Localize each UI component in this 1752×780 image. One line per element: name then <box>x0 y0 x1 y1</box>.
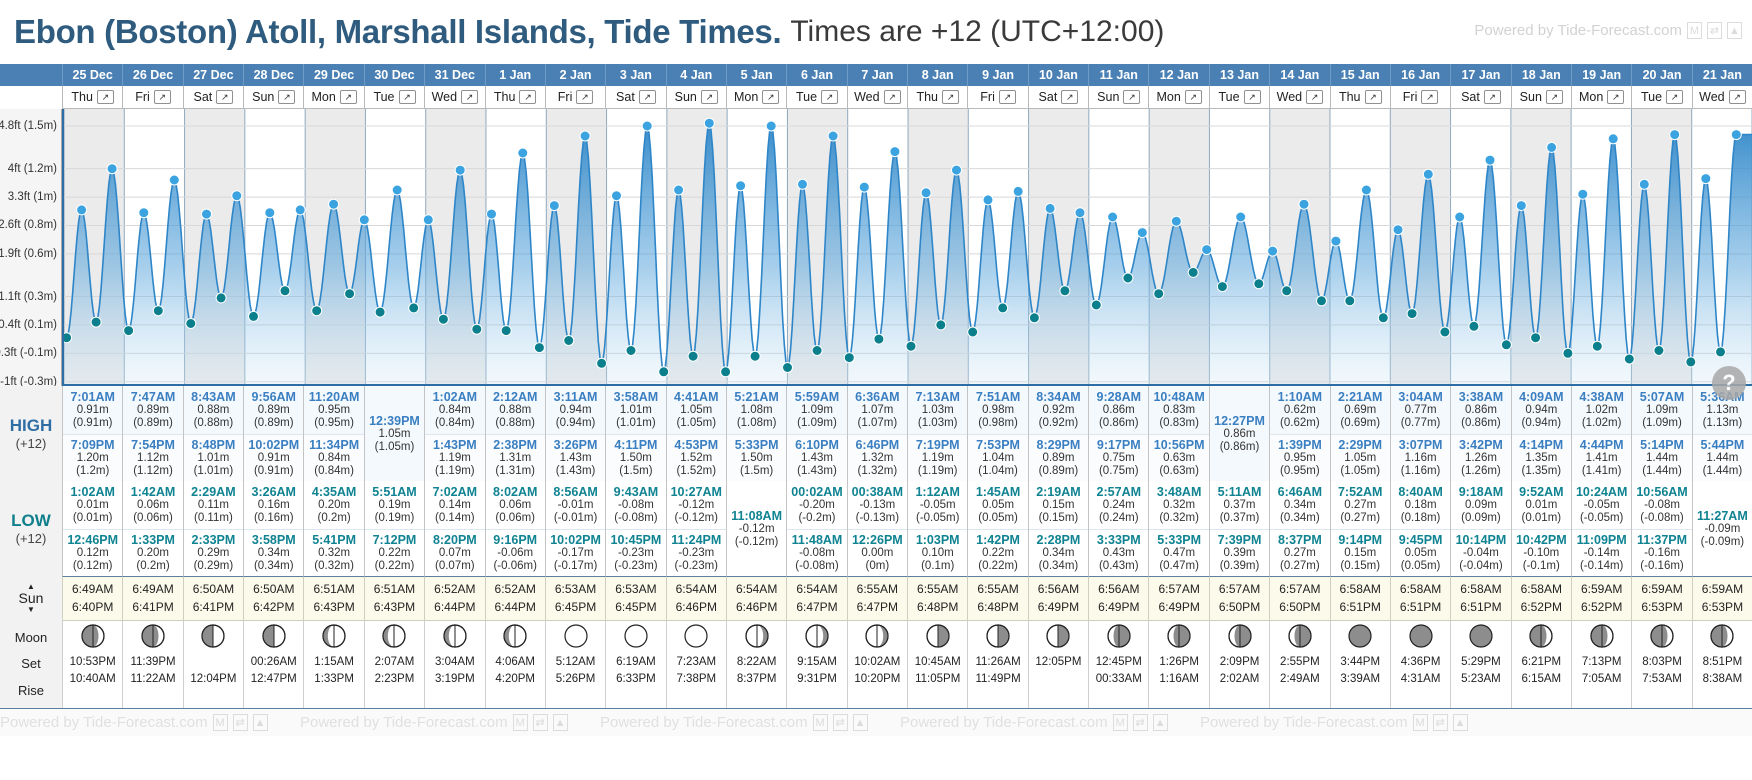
sunset-time: 6:45PM <box>555 599 596 616</box>
day-header-4[interactable]: Mon↗ <box>303 86 363 109</box>
low-tide-point-2[interactable] <box>91 317 101 327</box>
low-time: 6:46AM <box>1278 485 1322 499</box>
date-header-20[interactable]: 14 Jan <box>1269 64 1329 86</box>
high-height-alt: (1.44m) <box>1642 465 1682 478</box>
moon-times: 10:53PM10:40AM <box>70 654 116 689</box>
expand-day-icon[interactable]: ↗ <box>639 90 656 104</box>
day-header-12[interactable]: Tue↗ <box>786 86 846 109</box>
expand-day-icon[interactable]: ↗ <box>701 90 718 104</box>
date-header-3[interactable]: 28 Dec <box>243 64 303 86</box>
y-axis-tick-4: 1.9ft (0.6m) <box>0 248 57 260</box>
expand-day-icon[interactable]: ↗ <box>97 90 114 104</box>
high-tide-point-9[interactable] <box>202 209 212 219</box>
high-cell-25: 4:38AM1.02m(1.02m)4:44PM1.41m(1.41m) <box>1571 386 1631 481</box>
high-tide-point-15[interactable] <box>295 205 305 215</box>
high-tide-point-81[interactable] <box>1331 236 1341 246</box>
low-tide-point-30[interactable] <box>534 343 544 353</box>
low-tide-point-18[interactable] <box>345 289 355 299</box>
day-header-11[interactable]: Mon↗ <box>726 86 786 109</box>
moonrise-time: 10:40AM <box>70 671 116 688</box>
low-tide-point-76[interactable] <box>1254 279 1264 289</box>
day-header-15[interactable]: Fri↗ <box>967 86 1027 109</box>
high-tide-point-47[interactable] <box>798 179 808 189</box>
high-tide-point-25[interactable] <box>455 165 465 175</box>
high-time: 7:19PM <box>916 438 960 452</box>
low-tide-point-26[interactable] <box>472 324 482 334</box>
expand-day-icon[interactable]: ↗ <box>216 90 233 104</box>
high-tide-point-33[interactable] <box>580 131 590 141</box>
low-height: 0.24m <box>1103 499 1135 512</box>
low-tide-point-56[interactable] <box>936 320 946 330</box>
high-height-alt: (0.77m) <box>1401 417 1441 430</box>
moon-times: 2:07AM2:23PM <box>375 654 415 689</box>
low-height-alt: (-0.05m) <box>1580 512 1623 525</box>
day-name-label: Sat <box>616 90 635 104</box>
high-tide-point-65[interactable] <box>1075 208 1085 218</box>
day-header-8[interactable]: Fri↗ <box>545 86 605 109</box>
high-tide-point-19[interactable] <box>359 215 369 225</box>
high-tide-point-93[interactable] <box>1516 201 1526 211</box>
date-header-19[interactable]: 13 Jan <box>1209 64 1269 86</box>
moonrise-time: 00:33AM <box>1096 671 1142 688</box>
low-tide-point-38[interactable] <box>659 367 669 377</box>
low-tide-point-14[interactable] <box>280 286 290 296</box>
low-tide-point-12[interactable] <box>249 311 259 321</box>
low-tide-point-102[interactable] <box>1654 346 1664 356</box>
sun-label-text: Sun <box>19 590 44 606</box>
low-tide-point-46[interactable] <box>783 363 793 373</box>
low-tide-point-0[interactable] <box>64 333 72 343</box>
expand-day-icon[interactable]: ↗ <box>999 90 1016 104</box>
help-icon[interactable]: ? <box>1712 366 1746 400</box>
date-header-10[interactable]: 4 Jan <box>666 64 726 86</box>
moon-label-text: Moon <box>15 630 48 645</box>
high-tide-point-13[interactable] <box>265 208 275 218</box>
high-height: 1.09m <box>1646 404 1678 417</box>
expand-day-icon[interactable]: ↗ <box>1607 90 1624 104</box>
date-header-17[interactable]: 11 Jan <box>1088 64 1148 86</box>
low-height: 0.18m <box>1405 499 1437 512</box>
tide-curve-plot[interactable] <box>62 109 1752 386</box>
low-tide-point-70[interactable] <box>1154 289 1164 299</box>
moon-cell-15: 11:26AM11:49PM <box>967 620 1027 708</box>
sun-cell-15: 6:55AM6:48PM <box>967 576 1027 620</box>
sunrise-time: 6:51AM <box>313 581 354 598</box>
high-tide-point-53[interactable] <box>890 147 900 157</box>
high-tide-point-79[interactable] <box>1299 199 1309 209</box>
low-entry: 10:27AM-0.12m(-0.12m) <box>667 481 726 529</box>
high-cell-7: 2:12AM0.88m(0.88m)2:38PM1.31m(1.31m) <box>485 386 545 481</box>
high-tide-point-41[interactable] <box>704 118 714 128</box>
low-height-alt: (0.09m) <box>1461 512 1501 525</box>
high-time: 10:56PM <box>1154 438 1205 452</box>
date-header-0[interactable]: 25 Dec <box>62 64 122 86</box>
moon-cell-1: 11:39PM11:22AM <box>122 620 182 708</box>
low-entry: 1:42AM0.06m(0.06m) <box>123 481 182 529</box>
low-tide-point-78[interactable] <box>1282 286 1292 296</box>
expand-day-icon[interactable]: ↗ <box>1185 90 1202 104</box>
high-tide-point-43[interactable] <box>736 181 746 191</box>
day-header-2[interactable]: Sat↗ <box>183 86 243 109</box>
low-tide-point-8[interactable] <box>186 319 196 329</box>
moonrise-time: 1:33PM <box>314 671 354 688</box>
expand-day-icon[interactable]: ↗ <box>1421 90 1438 104</box>
high-tide-point-11[interactable] <box>232 191 242 201</box>
sunset-time: 6:46PM <box>736 599 777 616</box>
high-entry: 5:21AM1.08m(1.08m) <box>727 386 786 434</box>
low-tide-point-90[interactable] <box>1469 321 1479 331</box>
low-entry: 3:26AM0.16m(0.16m) <box>244 481 303 529</box>
date-header-27[interactable]: 21 Jan <box>1692 64 1752 86</box>
moonset-time: 8:22AM <box>737 654 777 671</box>
high-tide-point-75[interactable] <box>1236 212 1246 222</box>
high-time: 7:47AM <box>131 390 175 404</box>
high-tide-point-83[interactable] <box>1361 185 1371 195</box>
high-tide-point-3[interactable] <box>107 164 117 174</box>
high-tide-point-5[interactable] <box>139 208 149 218</box>
high-tide-point-1[interactable] <box>77 205 87 215</box>
high-tide-point-23[interactable] <box>423 215 433 225</box>
high-height: 1.05m <box>1344 452 1376 465</box>
high-height-alt: (0.62m) <box>1280 417 1320 430</box>
sun-cell-12: 6:54AM6:47PM <box>786 576 846 620</box>
sunrise-time: 6:50AM <box>253 581 294 598</box>
date-header-12[interactable]: 6 Jan <box>786 64 846 86</box>
moon-phase-icon <box>805 624 829 651</box>
day-name-label: Wed <box>1277 90 1302 104</box>
low-tide-point-22[interactable] <box>409 303 419 313</box>
high-tide-point-103[interactable] <box>1670 130 1680 140</box>
low-tide-point-44[interactable] <box>750 351 760 361</box>
day-header-7[interactable]: Thu↗ <box>485 86 545 109</box>
day-header-1[interactable]: Fri↗ <box>122 86 182 109</box>
date-header-14[interactable]: 8 Jan <box>907 64 967 86</box>
high-tide-point-95[interactable] <box>1547 142 1557 152</box>
date-header-6[interactable]: 31 Dec <box>424 64 484 86</box>
low-height: 0.22m <box>982 547 1014 560</box>
expand-day-icon[interactable]: ↗ <box>399 90 416 104</box>
expand-day-icon[interactable]: ↗ <box>576 90 593 104</box>
day-header-24[interactable]: Sun↗ <box>1511 86 1571 109</box>
day-header-6[interactable]: Wed↗ <box>424 86 484 109</box>
high-tide-point-29[interactable] <box>518 148 528 158</box>
low-tide-point-52[interactable] <box>874 334 884 344</box>
expand-day-icon[interactable]: ↗ <box>340 90 357 104</box>
date-header-18[interactable]: 12 Jan <box>1148 64 1208 86</box>
date-header-23[interactable]: 17 Jan <box>1450 64 1510 86</box>
low-tide-point-34[interactable] <box>597 358 607 368</box>
expand-day-icon[interactable]: ↗ <box>821 90 838 104</box>
day-header-25[interactable]: Mon↗ <box>1571 86 1631 109</box>
low-tide-point-84[interactable] <box>1378 313 1388 323</box>
low-tide-point-88[interactable] <box>1440 327 1450 337</box>
y-axis-tick-0: 4.8ft (1.5m) <box>0 120 57 132</box>
low-tide-point-16[interactable] <box>312 306 322 316</box>
expand-day-icon[interactable]: ↗ <box>1306 90 1323 104</box>
low-tide-point-48[interactable] <box>812 346 822 356</box>
high-tide-point-55[interactable] <box>921 188 931 198</box>
date-header-2[interactable]: 27 Dec <box>183 64 243 86</box>
expand-day-icon[interactable]: ↗ <box>942 90 959 104</box>
sun-cell-11: 6:54AM6:46PM <box>726 576 786 620</box>
day-header-27[interactable]: Wed↗ <box>1692 86 1752 109</box>
expand-day-icon[interactable]: ↗ <box>1546 90 1563 104</box>
expand-day-icon[interactable]: ↗ <box>884 90 901 104</box>
low-height: 0.20m <box>318 499 350 512</box>
high-tide-point-27[interactable] <box>487 209 497 219</box>
moon-phase-icon <box>141 624 165 651</box>
high-tide-point-21[interactable] <box>392 185 402 195</box>
day-header-3[interactable]: Sun↗ <box>243 86 303 109</box>
low-tide-point-100[interactable] <box>1624 354 1634 364</box>
high-tide-point-101[interactable] <box>1639 179 1649 189</box>
day-header-5[interactable]: Tue↗ <box>364 86 424 109</box>
date-header-4[interactable]: 29 Dec <box>303 64 363 86</box>
low-tide-point-80[interactable] <box>1317 296 1327 306</box>
high-tide-point-85[interactable] <box>1393 225 1403 235</box>
low-tide-point-4[interactable] <box>124 326 134 336</box>
high-tide-point-107[interactable] <box>1731 130 1741 140</box>
expand-day-icon[interactable]: ↗ <box>1484 90 1501 104</box>
low-time: 11:24PM <box>671 533 721 547</box>
low-tide-point-36[interactable] <box>626 346 636 356</box>
day-header-9[interactable]: Sat↗ <box>605 86 665 109</box>
low-tide-point-74[interactable] <box>1217 282 1227 292</box>
moon-set-label: Set <box>21 656 41 671</box>
low-tide-point-92[interactable] <box>1501 340 1511 350</box>
expand-day-icon[interactable]: ↗ <box>278 90 295 104</box>
moon-cell-3: 00:26AM12:47PM <box>243 620 303 708</box>
high-time: 2:21AM <box>1338 390 1382 404</box>
high-tide-point-45[interactable] <box>766 121 776 131</box>
moon-times: 2:09PM2:02AM <box>1220 654 1260 689</box>
moonrise-time: 11:22AM <box>130 671 175 688</box>
low-tide-point-58[interactable] <box>968 327 978 337</box>
high-height: 0.94m <box>1525 404 1557 417</box>
low-tide-point-28[interactable] <box>501 326 511 336</box>
high-time: 7:13AM <box>915 390 959 404</box>
expand-day-icon[interactable]: ↗ <box>1666 90 1683 104</box>
date-header-9[interactable]: 3 Jan <box>605 64 665 86</box>
moonset-time: 8:03PM <box>1642 654 1682 671</box>
date-header-5[interactable]: 30 Dec <box>364 64 424 86</box>
date-header-24[interactable]: 18 Jan <box>1511 64 1571 86</box>
day-header-19[interactable]: Tue↗ <box>1209 86 1269 109</box>
low-tide-point-98[interactable] <box>1592 341 1602 351</box>
low-height: -0.13m <box>859 499 895 512</box>
high-time: 10:02PM <box>248 438 299 452</box>
high-tide-point-49[interactable] <box>828 131 838 141</box>
high-cell-13: 6:36AM1.07m(1.07m)6:46PM1.32m(1.32m) <box>847 386 907 481</box>
high-tide-point-97[interactable] <box>1578 189 1588 199</box>
low-entry: 7:52AM0.27m(0.27m) <box>1331 481 1390 529</box>
moon-phase-icon <box>1469 624 1493 651</box>
day-header-14[interactable]: Thu↗ <box>907 86 967 109</box>
high-time: 7:53PM <box>976 438 1020 452</box>
low-tide-point-94[interactable] <box>1531 333 1541 343</box>
moonset-time: 5:12AM <box>556 654 596 671</box>
moonset-time: 9:15AM <box>797 654 837 671</box>
date-header-1[interactable]: 26 Dec <box>122 64 182 86</box>
day-header-20[interactable]: Wed↗ <box>1269 86 1329 109</box>
date-header-11[interactable]: 5 Jan <box>726 64 786 86</box>
day-header-0[interactable]: Thu↗ <box>62 86 122 109</box>
high-height-alt: (0.86m) <box>1461 417 1501 430</box>
date-header-13[interactable]: 7 Jan <box>847 64 907 86</box>
high-tide-point-67[interactable] <box>1108 212 1118 222</box>
low-tide-point-106[interactable] <box>1716 347 1726 357</box>
low-tide-point-86[interactable] <box>1407 309 1417 319</box>
low-tide-point-62[interactable] <box>1029 313 1039 323</box>
high-tide-point-73[interactable] <box>1202 245 1212 255</box>
high-tide-point-77[interactable] <box>1268 246 1278 256</box>
low-height-alt: (0.47m) <box>1159 560 1199 573</box>
expand-day-icon[interactable]: ↗ <box>519 90 536 104</box>
day-header-26[interactable]: Tue↗ <box>1631 86 1691 109</box>
date-header-15[interactable]: 9 Jan <box>967 64 1027 86</box>
footer-watermark-icon-1: ⇄ <box>533 714 548 731</box>
high-cell-4: 11:20AM0.95m(0.95m)11:34PM0.84m(0.84m) <box>303 386 363 481</box>
high-cell-0: 7:01AM0.91m(0.91m)7:09PM1.20m(1.2m) <box>62 386 122 481</box>
high-tide-point-99[interactable] <box>1608 134 1618 144</box>
low-tide-point-24[interactable] <box>438 314 448 324</box>
high-time: 8:48PM <box>192 438 236 452</box>
high-tide-point-91[interactable] <box>1485 155 1495 165</box>
expand-day-icon[interactable]: ↗ <box>762 90 779 104</box>
date-header-25[interactable]: 19 Jan <box>1571 64 1631 86</box>
high-time: 2:12AM <box>493 390 537 404</box>
low-entry: 7:39PM0.39m(0.39m) <box>1210 529 1269 577</box>
date-header-21[interactable]: 15 Jan <box>1330 64 1390 86</box>
day-header-22[interactable]: Fri↗ <box>1390 86 1450 109</box>
high-entry: 1:10AM0.62m(0.62m) <box>1270 386 1329 434</box>
sunset-time: 6:47PM <box>857 599 898 616</box>
sunrise-time: 6:53AM <box>555 581 596 598</box>
low-tide-point-40[interactable] <box>688 351 698 361</box>
low-tide-point-104[interactable] <box>1686 357 1696 367</box>
sun-cell-22: 6:58AM6:51PM <box>1390 576 1450 620</box>
low-tide-point-66[interactable] <box>1091 300 1101 310</box>
expand-day-icon[interactable]: ↗ <box>1729 90 1746 104</box>
date-header-16[interactable]: 10 Jan <box>1028 64 1088 86</box>
low-tide-point-68[interactable] <box>1123 273 1133 283</box>
high-tide-point-105[interactable] <box>1701 174 1711 184</box>
high-tide-point-69[interactable] <box>1137 228 1147 238</box>
day-header-17[interactable]: Sun↗ <box>1088 86 1148 109</box>
high-entry: 3:42PM1.26m(1.26m) <box>1451 434 1510 482</box>
low-tide-point-10[interactable] <box>216 293 226 303</box>
moon-cell-9: 6:19AM6:33PM <box>605 620 665 708</box>
moonrise-time: 4:20PM <box>495 671 535 688</box>
sun-cell-21: 6:58AM6:51PM <box>1330 576 1390 620</box>
moon-phase-icon <box>1167 624 1191 651</box>
low-tide-point-72[interactable] <box>1188 267 1198 277</box>
low-tide-point-32[interactable] <box>564 336 574 346</box>
high-tide-point-7[interactable] <box>169 175 179 185</box>
moonrise-time: 4:31AM <box>1401 671 1441 688</box>
expand-day-icon[interactable]: ↗ <box>154 90 171 104</box>
high-tide-point-17[interactable] <box>329 199 339 209</box>
sunrise-time: 6:59AM <box>1581 581 1622 598</box>
moon-times: 4:06AM4:20PM <box>495 654 535 689</box>
low-tide-point-50[interactable] <box>844 353 854 363</box>
expand-day-icon[interactable]: ↗ <box>1123 90 1140 104</box>
high-height-alt: (1.01m) <box>616 417 656 430</box>
low-tide-point-60[interactable] <box>998 303 1008 313</box>
high-tide-point-59[interactable] <box>983 195 993 205</box>
high-tide-point-89[interactable] <box>1455 212 1465 222</box>
date-header-22[interactable]: 16 Jan <box>1390 64 1450 86</box>
high-tide-point-51[interactable] <box>859 182 869 192</box>
low-tide-point-42[interactable] <box>721 367 731 377</box>
sunrise-time: 6:49AM <box>72 581 113 598</box>
high-tide-point-87[interactable] <box>1423 169 1433 179</box>
high-time: 6:10PM <box>795 438 839 452</box>
high-tide-point-31[interactable] <box>549 201 559 211</box>
moonset-time: 5:29PM <box>1461 654 1501 671</box>
expand-day-icon[interactable]: ↗ <box>1061 90 1078 104</box>
high-tide-point-71[interactable] <box>1171 216 1181 226</box>
watermark-icon-3: ▲ <box>1727 22 1742 39</box>
y-axis-tick-8: -1ft (-0.3m) <box>0 376 57 386</box>
footer-watermark-icon-0: M <box>513 714 528 731</box>
high-cell-17: 9:28AM0.86m(0.86m)9:17PM0.75m(0.75m) <box>1088 386 1148 481</box>
low-tide-point-96[interactable] <box>1563 348 1573 358</box>
high-tide-point-39[interactable] <box>674 185 684 195</box>
date-header-8[interactable]: 2 Jan <box>545 64 605 86</box>
high-tide-point-35[interactable] <box>612 191 622 201</box>
high-tide-point-61[interactable] <box>1013 186 1023 196</box>
date-header-7[interactable]: 1 Jan <box>485 64 545 86</box>
low-height: -0.17m <box>558 547 594 560</box>
high-entry: 4:41AM1.05m(1.05m) <box>667 386 726 434</box>
expand-day-icon[interactable]: ↗ <box>1365 90 1382 104</box>
moon-times: 7:13PM7:05AM <box>1582 654 1622 689</box>
sunset-time: 6:42PM <box>253 599 294 616</box>
high-height: 1.32m <box>861 452 893 465</box>
low-height-alt: (0.12m) <box>73 560 113 573</box>
low-tide-point-82[interactable] <box>1345 296 1355 306</box>
moon-times: 12:05PM <box>1035 654 1081 689</box>
high-height-alt: (1.05m) <box>1340 465 1380 478</box>
sun-row: ▲ Sun ▼ 6:49AM6:40PM6:49AM6:41PM6:50AM6:… <box>0 576 1752 620</box>
high-entry: 8:34AM0.92m(0.92m) <box>1029 386 1088 434</box>
high-tide-point-37[interactable] <box>642 121 652 131</box>
day-name-label: Thu <box>916 90 938 104</box>
day-header-16[interactable]: Sat↗ <box>1028 86 1088 109</box>
day-header-21[interactable]: Thu↗ <box>1330 86 1390 109</box>
expand-day-icon[interactable]: ↗ <box>461 90 478 104</box>
date-header-26[interactable]: 20 Jan <box>1631 64 1691 86</box>
expand-day-icon[interactable]: ↗ <box>1244 90 1261 104</box>
sunrise-time: 6:54AM <box>796 581 837 598</box>
day-header-23[interactable]: Sat↗ <box>1450 86 1510 109</box>
low-tide-point-20[interactable] <box>375 307 385 317</box>
day-header-13[interactable]: Wed↗ <box>847 86 907 109</box>
high-height-alt: (0.94m) <box>556 417 596 430</box>
low-entry: 00:38AM-0.13m(-0.13m) <box>848 481 907 529</box>
low-tide-point-54[interactable] <box>906 341 916 351</box>
high-tide-point-63[interactable] <box>1045 203 1055 213</box>
day-header-18[interactable]: Mon↗ <box>1148 86 1208 109</box>
high-height-alt: (1.5m) <box>619 465 652 478</box>
moon-phase-icon <box>1710 624 1734 651</box>
moon-phase-icon <box>382 624 406 651</box>
low-tide-point-6[interactable] <box>153 306 163 316</box>
high-tide-point-57[interactable] <box>952 165 962 175</box>
day-header-10[interactable]: Sun↗ <box>666 86 726 109</box>
low-tide-point-64[interactable] <box>1060 286 1070 296</box>
